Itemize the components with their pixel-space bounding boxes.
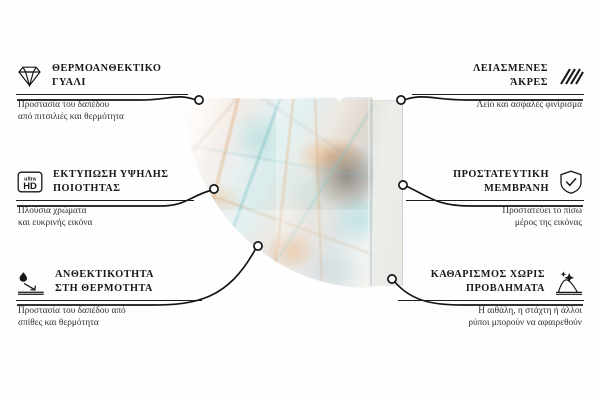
feature-heat-resistant-glass: ΘΕΡΜΟΑΝΘΕΚΤΙΚΟ ΓΥΑΛΙ Προστασία του δαπέδ…	[16, 62, 188, 124]
glass-top-edge	[220, 97, 372, 99]
feature-protective-membrane: ΠΡΟΣΤΑΤΕΥΤΙΚΗ ΜΕΜΒΡΑΝΗ Προστατεύει το πί…	[406, 168, 584, 230]
product-glass-panel	[180, 98, 373, 293]
feature-heat-resistance: ΑΝΘΕΚΤΙΚΟΤΗΤΑ ΣΤΗ ΘΕΡΜΟΤΗΤΑ Προστασία το…	[16, 268, 202, 330]
feature-divider	[412, 94, 584, 95]
feature-high-quality-print: ultra HD ΕΚΤΥΠΩΣΗ ΥΨΗΛΗΣ ΠΟΙΟΤΗΤΑΣ Πλούσ…	[16, 168, 194, 230]
feature-title: ΠΡΟΣΤΑΤΕΥΤΙΚΗ ΜΕΜΒΡΑΝΗ	[453, 168, 549, 196]
feature-subtitle: Η αιθάλη, η στάχτη ή άλλοι ρύποι μπορούν…	[398, 305, 584, 330]
feature-title: ΘΕΡΜΟΑΝΘΕΚΤΙΚΟ ΓΥΑΛΙ	[52, 62, 161, 90]
marble-veins-secondary	[180, 98, 373, 293]
feature-easy-cleaning: ΚΑΘΑΡΙΣΜΟΣ ΧΩΡΙΣ ΠΡΟΒΛΗΜΑΤΑ Η αιθάλη, η …	[398, 268, 584, 330]
flame-deflect-icon	[16, 270, 46, 295]
feature-divider	[16, 94, 188, 95]
badge-large-label: HD	[23, 180, 37, 191]
diamond-icon	[16, 65, 43, 88]
shield-check-icon	[558, 169, 584, 195]
feature-subtitle: Λείο και ασφαλές φινίρισμα	[412, 99, 584, 111]
feature-subtitle: Προστασία του δαπέδου από σπίθες και θερ…	[16, 305, 202, 330]
feature-title: ΛΕΙΑΣΜΕΝΕΣ ΆΚΡΕΣ	[473, 62, 548, 90]
feature-title: ΑΝΘΕΚΤΙΚΟΤΗΤΑ ΣΤΗ ΘΕΡΜΟΤΗΤΑ	[55, 268, 154, 296]
glass-right-edge	[368, 98, 372, 286]
product-feature-infographic: ΘΕΡΜΟΑΝΘΕΚΤΙΚΟ ΓΥΑΛΙ Προστασία του δαπέδ…	[0, 0, 600, 400]
feature-title: ΚΑΘΑΡΙΣΜΟΣ ΧΩΡΙΣ ΠΡΟΒΛΗΜΑΤΑ	[431, 268, 545, 296]
product-image	[180, 88, 410, 303]
feature-subtitle: Προστασία του δαπέδου από πιτσιλιές και …	[16, 99, 188, 124]
feature-divider	[16, 200, 194, 201]
feature-subtitle: Πλούσια χρώματα και ευκρινής εικόνα	[16, 205, 194, 230]
feature-divider	[406, 200, 584, 201]
sparkle-clean-icon	[554, 270, 584, 295]
diagonal-lines-icon	[557, 65, 584, 88]
feature-divider	[16, 300, 202, 301]
ultra-hd-badge-icon: ultra HD	[16, 170, 44, 194]
product-back-panel	[371, 100, 403, 286]
feature-title: ΕΚΤΥΠΩΣΗ ΥΨΗΛΗΣ ΠΟΙΟΤΗΤΑΣ	[53, 168, 168, 196]
feature-divider	[398, 300, 584, 301]
feature-subtitle: Προστατεύει το πίσω μέρος της εικόνας	[406, 205, 584, 230]
feature-smooth-edges: ΛΕΙΑΣΜΕΝΕΣ ΆΚΡΕΣ Λείο και ασφαλές φινίρι…	[412, 62, 584, 111]
